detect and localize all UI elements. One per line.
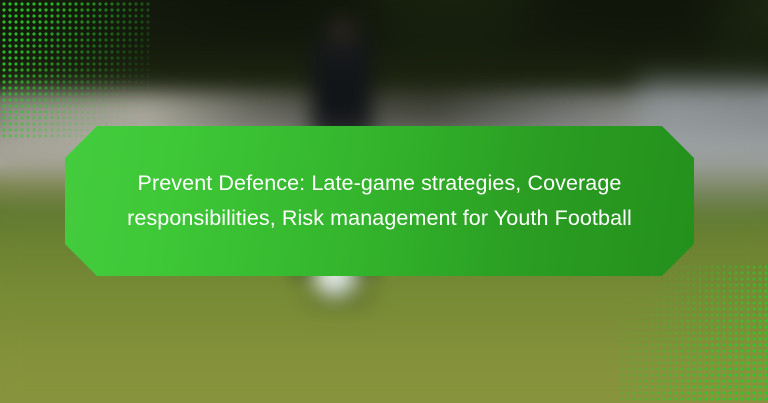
title-banner: Prevent Defence: Late-game strategies, C… (65, 126, 694, 276)
page-title: Prevent Defence: Late-game strategies, C… (110, 166, 650, 236)
banner-stage: Prevent Defence: Late-game strategies, C… (0, 0, 768, 403)
dot-grid-top-left-icon (0, 0, 150, 140)
dot-grid-bottom-right-icon (618, 263, 768, 403)
